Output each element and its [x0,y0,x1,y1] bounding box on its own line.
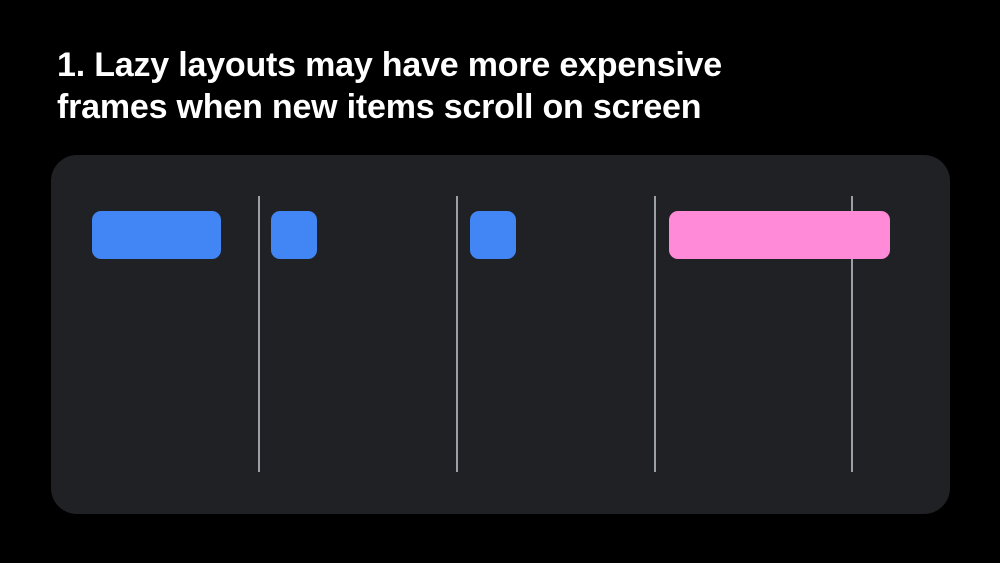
bar-frame-1[interactable] [92,211,221,259]
frame-timeline-chart: 1. Lazy layouts may have more expensive … [51,155,950,514]
gridline-2 [456,196,458,472]
bar-frame-2[interactable] [271,211,317,259]
slide-root: 1. Lazy layouts may have more expensive … [0,0,1000,563]
page-title: 1. Lazy layouts may have more expensive … [57,44,757,128]
chart-card: 1. Lazy layouts may have more expensive … [51,155,950,514]
bar-frame-4[interactable] [669,211,890,259]
bar-frame-3[interactable] [470,211,516,259]
gridline-1 [258,196,260,472]
gridline-3 [654,196,656,472]
chart-title: 1. Lazy layouts may have more expensive … [51,155,52,156]
